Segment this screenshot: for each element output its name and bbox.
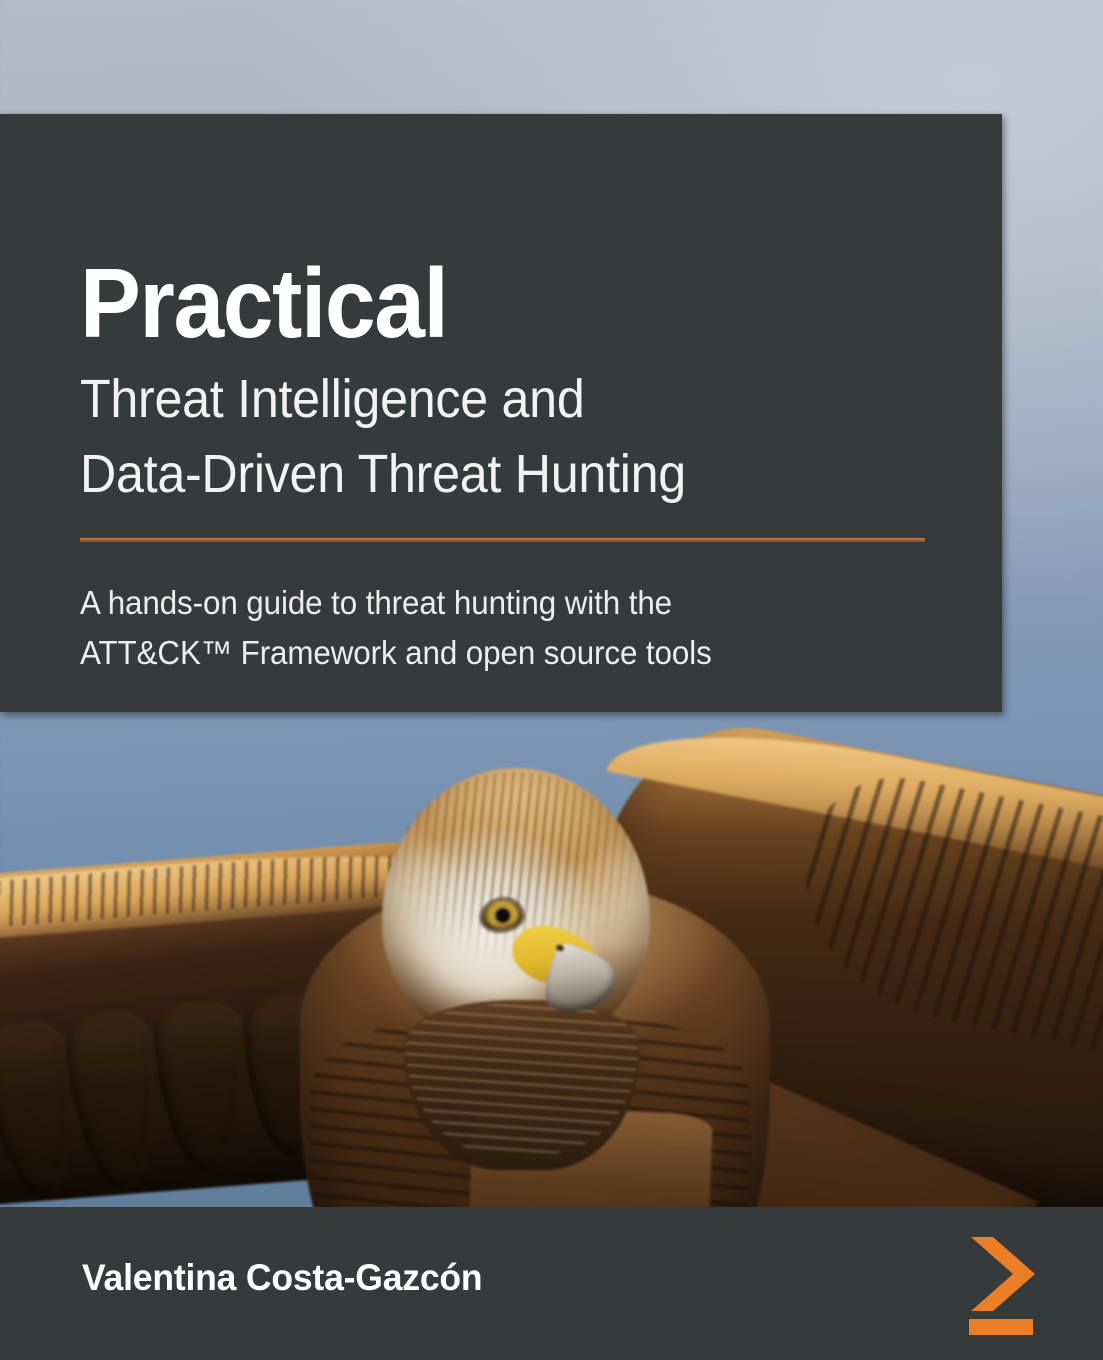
underscore-bar-icon bbox=[969, 1319, 1033, 1335]
title-panel: Practical Threat Intelligence and Data-D… bbox=[0, 114, 1002, 712]
book-title-main: Practical bbox=[80, 254, 447, 352]
book-subtitle: Threat Intelligence and Data-Driven Thre… bbox=[80, 362, 686, 511]
accent-divider-rule bbox=[80, 538, 925, 542]
book-tagline: A hands-on guide to threat hunting with … bbox=[80, 578, 712, 678]
book-cover: Practical Threat Intelligence and Data-D… bbox=[0, 0, 1103, 1360]
book-tagline-line-1: A hands-on guide to threat hunting with … bbox=[80, 578, 712, 628]
chevron-icon bbox=[971, 1237, 1035, 1311]
packt-logo-label: Packt bbox=[1051, 1233, 1052, 1234]
book-tagline-line-2: ATT&CK™ Framework and open source tools bbox=[80, 628, 712, 678]
book-subtitle-line-2: Data-Driven Threat Hunting bbox=[80, 437, 686, 512]
book-subtitle-line-1: Threat Intelligence and bbox=[80, 362, 686, 437]
packt-publisher-logo: Packt bbox=[967, 1233, 1051, 1337]
author-bar: Valentina Costa-Gazcón Packt bbox=[0, 1207, 1103, 1360]
author-name: Valentina Costa-Gazcón bbox=[82, 1257, 482, 1299]
